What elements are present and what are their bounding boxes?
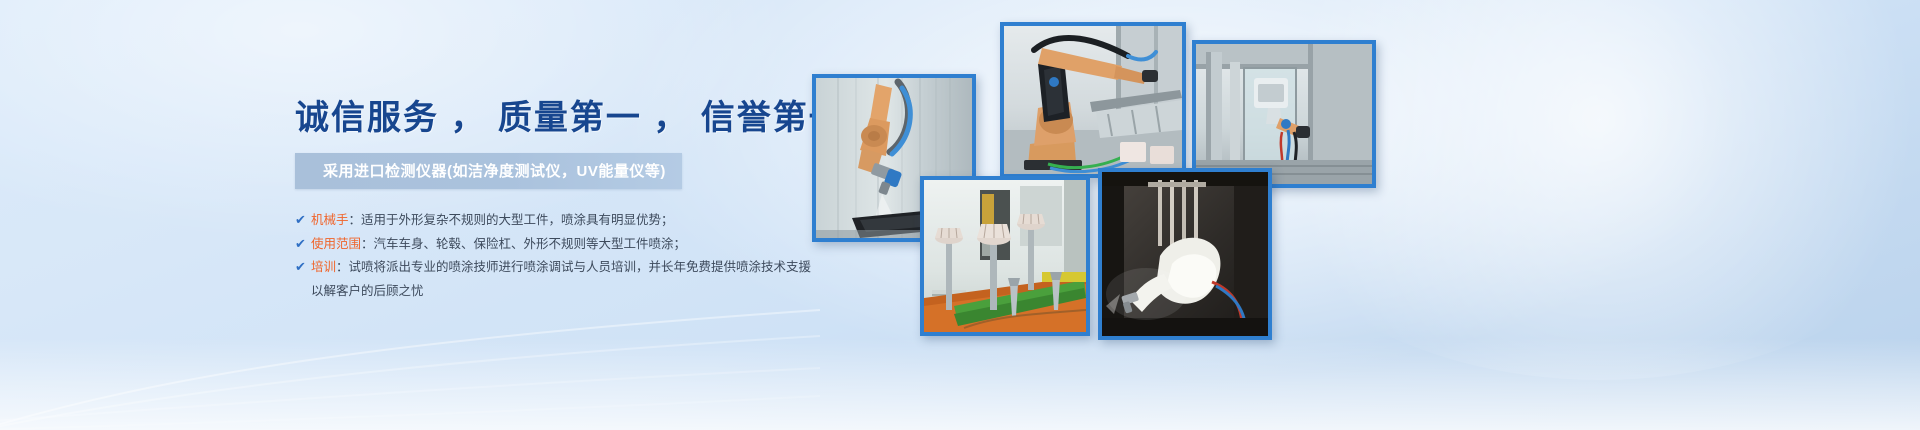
list-item-body: 汽车车身、轮毂、保险杠、外形不规则等大型工件喷涂；	[374, 237, 687, 251]
photo-worker-spraying-parts	[1098, 168, 1272, 340]
list-item-separator: ：	[336, 260, 349, 274]
list-item-text: 培训：试喷将派出专业的喷涂技师进行喷涂调试与人员培训，并长年免费提供喷涂技术支援	[311, 258, 815, 277]
photo-illustration	[924, 180, 1086, 332]
check-icon: ✔	[295, 258, 311, 277]
photo-paint-booth-equipment	[1192, 40, 1376, 188]
subtitle-bar: 采用进口检测仪器(如洁净度测试仪，UV能量仪等)	[295, 153, 682, 189]
photo-abb-robot-in-booth	[1000, 22, 1186, 178]
list-item: ✔ 机械手：适用于外形复杂不规则的大型工件，喷涂具有明显优势；	[295, 211, 815, 230]
list-item: ✔ 使用范围：汽车车身、轮毂、保险杠、外形不规则等大型工件喷涂；	[295, 235, 815, 254]
feature-list: ✔ 机械手：适用于外形复杂不规则的大型工件，喷涂具有明显优势； ✔ 使用范围：汽…	[295, 211, 815, 301]
list-item-text: 机械手：适用于外形复杂不规则的大型工件，喷涂具有明显优势；	[311, 211, 815, 230]
list-item-separator: ：	[361, 237, 374, 251]
list-item-body: 试喷将派出专业的喷涂技师进行喷涂调试与人员培训，并长年免费提供喷涂技术支援	[349, 260, 812, 274]
list-item-separator: ：	[349, 213, 362, 227]
photo-illustration	[1102, 172, 1268, 336]
list-item-body-wrap: 以解客户的后顾之忧	[295, 282, 815, 301]
list-item: ✔ 培训：试喷将派出专业的喷涂技师进行喷涂调试与人员培训，并长年免费提供喷涂技术…	[295, 258, 815, 277]
list-item-text: 使用范围：汽车车身、轮毂、保险杠、外形不规则等大型工件喷涂；	[311, 235, 815, 254]
photo-illustration	[1004, 26, 1182, 174]
list-item-body: 适用于外形复杂不规则的大型工件，喷涂具有明显优势；	[361, 213, 674, 227]
page-title: 诚信服务 ， 质量第一 ， 信誉第一	[295, 100, 815, 137]
promo-banner: 诚信服务 ， 质量第一 ， 信誉第一 采用进口检测仪器(如洁净度测试仪，UV能量…	[0, 0, 1920, 430]
copy-block: 诚信服务 ， 质量第一 ， 信誉第一 采用进口检测仪器(如洁净度测试仪，UV能量…	[295, 100, 815, 301]
photo-conveyor-coating-line	[920, 176, 1090, 336]
list-item-label: 培训	[311, 260, 336, 274]
photo-illustration	[1196, 44, 1372, 184]
list-item-label: 使用范围	[311, 237, 361, 251]
check-icon: ✔	[295, 211, 311, 230]
list-item-label: 机械手	[311, 213, 349, 227]
check-icon: ✔	[295, 235, 311, 254]
